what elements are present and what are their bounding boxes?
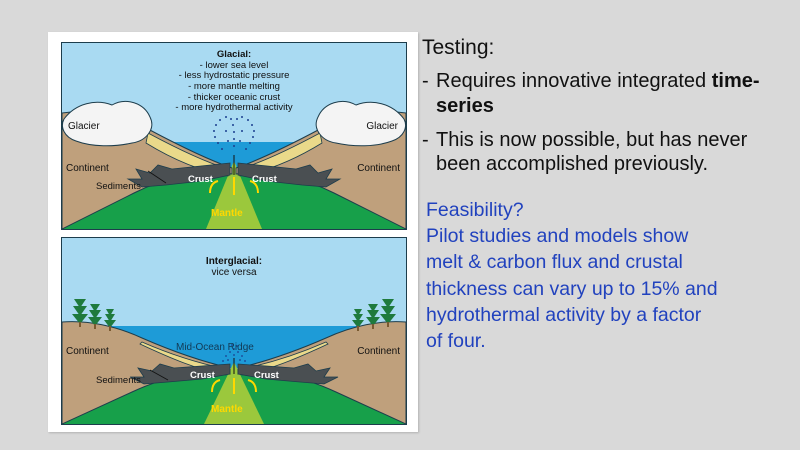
label-crust-right: Crust (252, 174, 277, 185)
label-continent-left-2: Continent (66, 346, 109, 357)
label-glacier-left: Glacier (68, 121, 100, 132)
glacial-text-block: Glacial: - lower sea level - less hydros… (124, 50, 344, 114)
glacial-bullet-2: - more mantle melting (124, 82, 344, 93)
label-sediments: Sediments (96, 181, 141, 192)
feasibility-line-4: hydrothermal activity by a factor (426, 302, 792, 328)
label-continent-right-2: Continent (357, 346, 400, 357)
bullet-item-1: - Requires innovative integrated time-se… (422, 69, 792, 119)
label-continent-right: Continent (357, 163, 400, 174)
interglacial-text-block: Interglacial: vice versa (144, 256, 324, 278)
bullet-dash-2: - (422, 128, 436, 178)
label-glacier-right: Glacier (366, 121, 398, 132)
bullet-text-1-plain: Requires innovative integrated (436, 70, 712, 92)
feasibility-block: Feasibility? Pilot studies and models sh… (426, 197, 792, 354)
label-crust-left-2: Crust (190, 370, 215, 381)
feasibility-line-0: Feasibility? (426, 197, 792, 223)
label-crust-left: Crust (188, 174, 213, 185)
label-mid-ocean-ridge: Mid-Ocean Ridge (176, 342, 254, 353)
bullet-text-1: Requires innovative integrated time-seri… (436, 69, 792, 119)
label-continent-left: Continent (66, 163, 109, 174)
label-crust-right-2: Crust (254, 370, 279, 381)
bullet-item-2: - This is now possible, but has never be… (422, 128, 792, 178)
text-column: Testing: - Requires innovative integrate… (420, 30, 792, 430)
glacial-bullet-4: - more hydrothermal activity (124, 103, 344, 114)
feasibility-line-3: thickness can vary up to 15% and (426, 276, 792, 302)
diagram-panel-glacial: Glacial: - lower sea level - less hydros… (61, 42, 407, 230)
interglacial-subtitle: vice versa (144, 267, 324, 278)
bullet-text-2: This is now possible, but has never been… (436, 128, 792, 178)
heading-testing: Testing: (422, 36, 792, 60)
label-sediments-2: Sediments (96, 375, 141, 386)
label-mantle: Mantle (211, 208, 243, 219)
figure-card: Glacial: - lower sea level - less hydros… (48, 32, 418, 432)
feasibility-line-5: of four. (426, 328, 792, 354)
diagram-panel-interglacial: Interglacial: vice versa Mid-Ocean Ridge… (61, 237, 407, 425)
feasibility-line-1: Pilot studies and models show (426, 223, 792, 249)
label-mantle-2: Mantle (211, 404, 243, 415)
feasibility-line-2: melt & carbon flux and crustal (426, 249, 792, 275)
interglacial-title: Interglacial: (144, 256, 324, 267)
bullet-dash-1: - (422, 69, 436, 119)
